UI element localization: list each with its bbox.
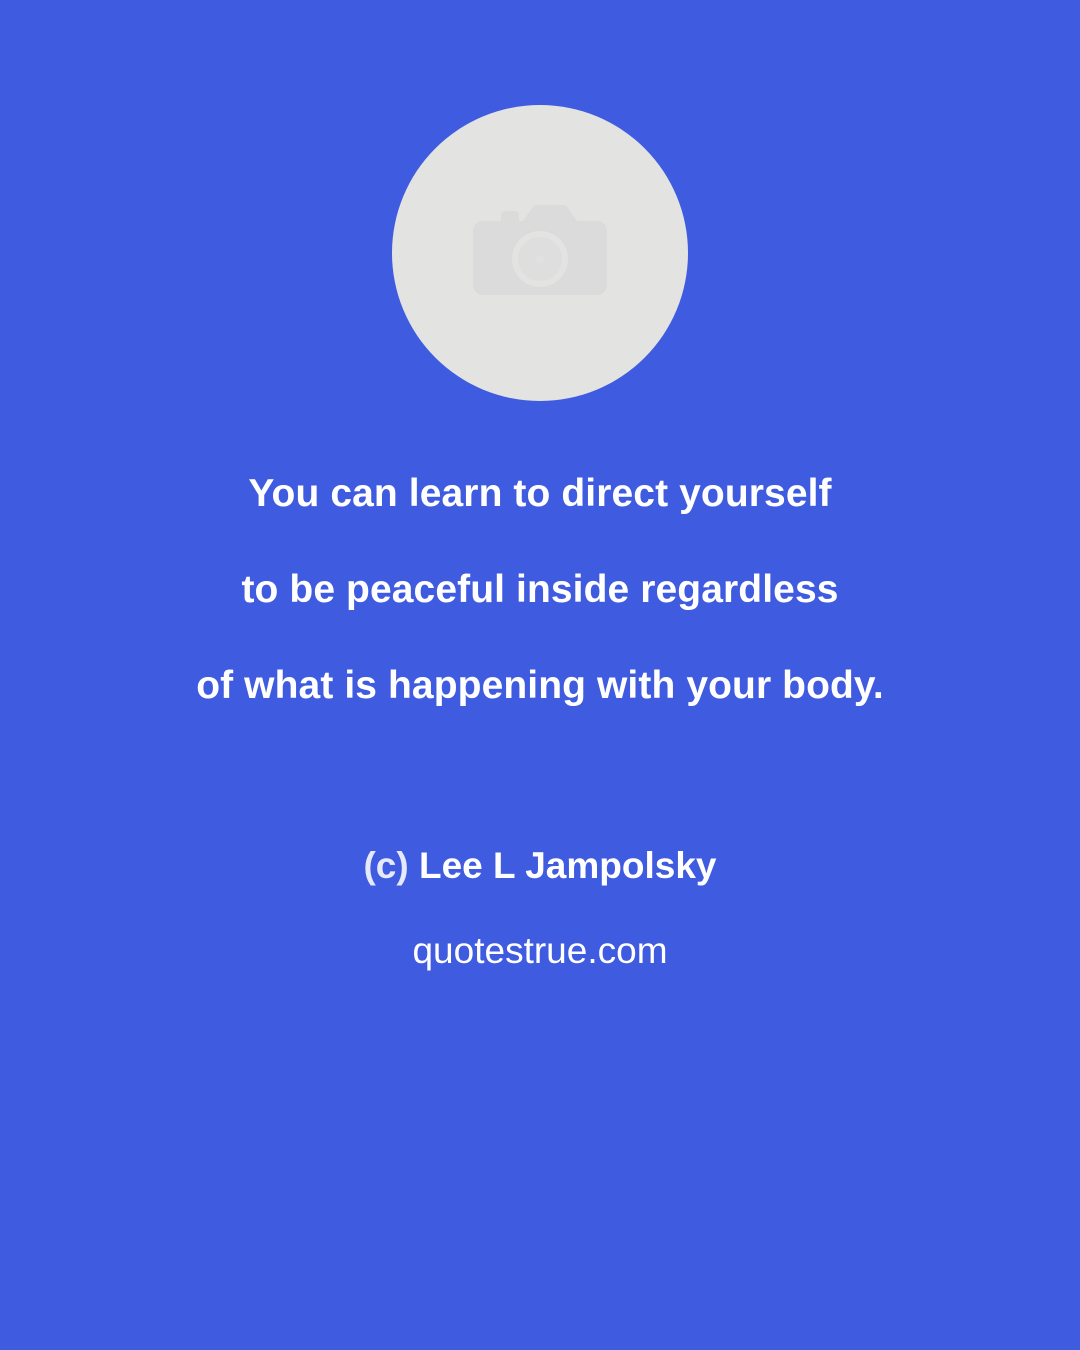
camera-placeholder-icon: [473, 201, 607, 305]
quote-text: You can learn to direct yourself to be p…: [50, 446, 1030, 734]
quote-line: of what is happening with your body.: [50, 638, 1030, 734]
source-website[interactable]: quotestrue.com: [50, 925, 1030, 977]
quote-card: You can learn to direct yourself to be p…: [0, 0, 1080, 1350]
quote-line: to be peaceful inside regardless: [50, 542, 1030, 638]
author-avatar[interactable]: [392, 105, 688, 401]
author-name: Lee L Jampolsky: [419, 845, 717, 886]
quote-attribution: (c) Lee L Jampolsky: [50, 840, 1030, 892]
quote-line: You can learn to direct yourself: [50, 446, 1030, 542]
copyright-mark: (c): [363, 845, 408, 886]
